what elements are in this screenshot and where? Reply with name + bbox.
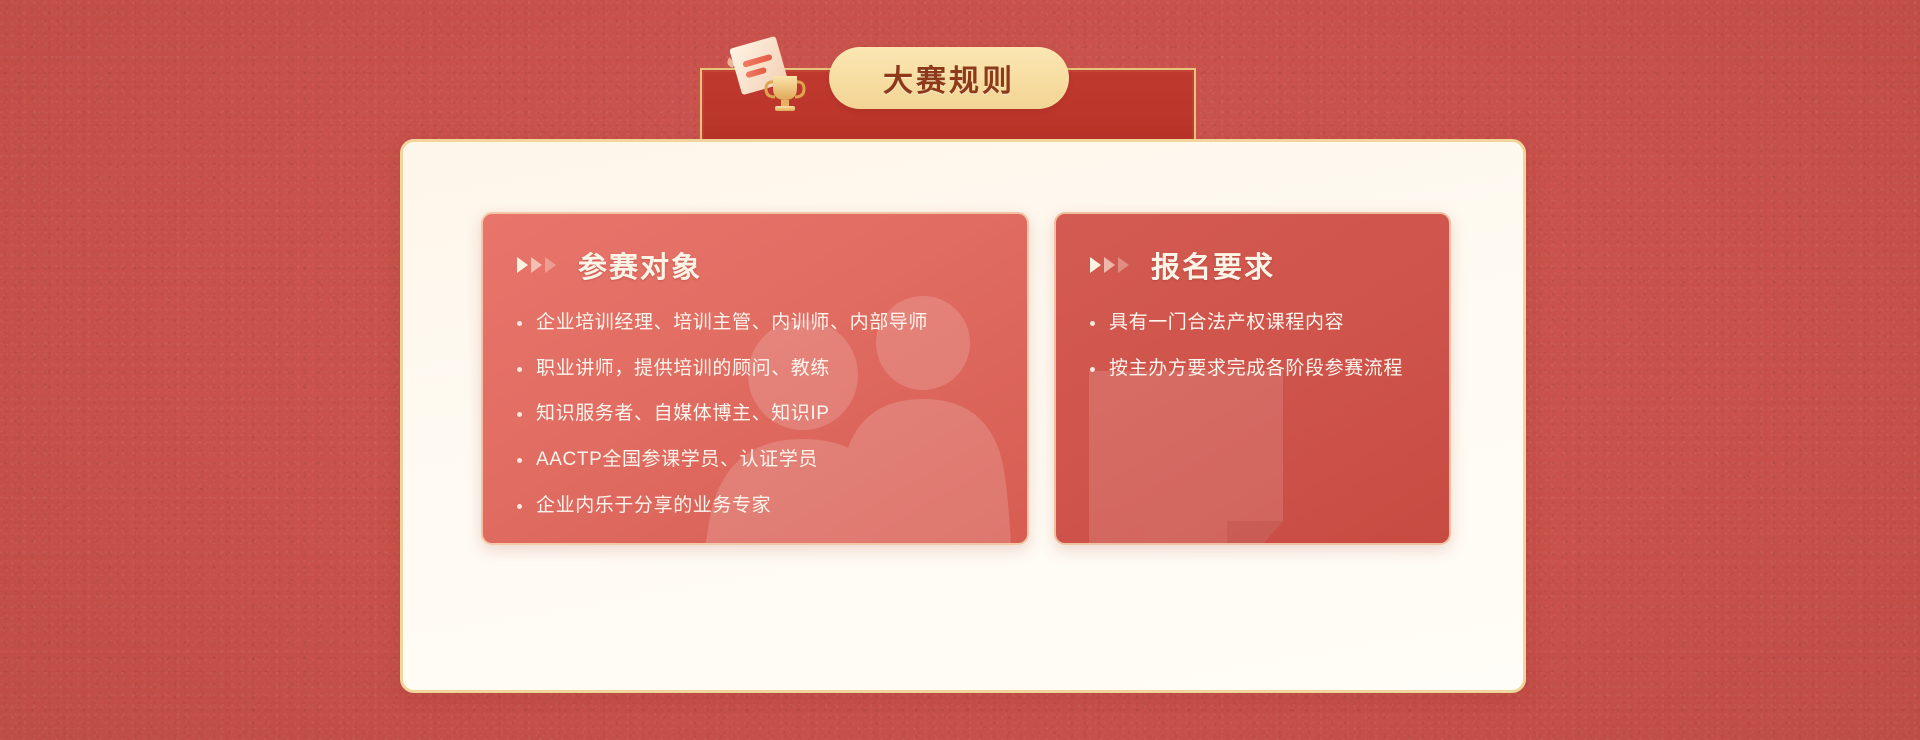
triangle-right-icon xyxy=(1090,257,1129,273)
section-title-badge: 大赛规则 xyxy=(829,47,1069,109)
participants-list: 企业培训经理、培训主管、内训师、内部导师 职业讲师，提供培训的顾问、教练 知识服… xyxy=(483,310,1027,518)
requirements-list: 具有一门合法产权课程内容 按主办方要求完成各阶段参赛流程 xyxy=(1056,310,1449,381)
card-requirements: 报名要求 具有一门合法产权课程内容 按主办方要求完成各阶段参赛流程 xyxy=(1054,212,1451,545)
triangle-right-icon xyxy=(517,257,556,273)
list-item-text: 知识服务者、自媒体博主、知识IP xyxy=(536,401,830,427)
list-item: AACTP全国参课学员、认证学员 xyxy=(517,447,1005,473)
bullet-dot-icon xyxy=(517,367,522,372)
list-item: 职业讲师，提供培训的顾问、教练 xyxy=(517,356,1005,382)
list-item-text: 职业讲师，提供培训的顾问、教练 xyxy=(536,356,830,382)
cards-container: 参赛对象 企业培训经理、培训主管、内训师、内部导师 职业讲师，提供培训的顾问、教… xyxy=(481,212,1451,545)
bullet-dot-icon xyxy=(517,321,522,326)
list-item: 按主办方要求完成各阶段参赛流程 xyxy=(1090,356,1427,382)
bullet-dot-icon xyxy=(517,504,522,509)
list-item-text: 企业内乐于分享的业务专家 xyxy=(536,493,771,519)
bullet-dot-icon xyxy=(517,458,522,463)
page-title: 大赛规则 xyxy=(883,56,1015,100)
list-item-text: AACTP全国参课学员、认证学员 xyxy=(536,447,818,473)
document-page-icon xyxy=(1081,363,1291,545)
list-item-text: 按主办方要求完成各阶段参赛流程 xyxy=(1109,356,1403,382)
list-item-text: 企业培训经理、培训主管、内训师、内部导师 xyxy=(536,310,928,336)
card-participants: 参赛对象 企业培训经理、培训主管、内训师、内部导师 职业讲师，提供培训的顾问、教… xyxy=(481,212,1029,545)
list-item: 企业培训经理、培训主管、内训师、内部导师 xyxy=(517,310,1005,336)
list-item-text: 具有一门合法产权课程内容 xyxy=(1109,310,1344,336)
list-item: 企业内乐于分享的业务专家 xyxy=(517,493,1005,519)
card-title-requirements: 报名要求 xyxy=(1151,244,1275,286)
bullet-dot-icon xyxy=(1090,321,1095,326)
list-item: 知识服务者、自媒体博主、知识IP xyxy=(517,401,1005,427)
rules-panel: 参赛对象 企业培训经理、培训主管、内训师、内部导师 职业讲师，提供培训的顾问、教… xyxy=(400,139,1526,693)
card-title-participants: 参赛对象 xyxy=(578,244,702,286)
card-header-participants: 参赛对象 xyxy=(483,244,1027,286)
bullet-dot-icon xyxy=(1090,367,1095,372)
bullet-dot-icon xyxy=(517,412,522,417)
card-header-requirements: 报名要求 xyxy=(1056,244,1449,286)
list-item: 具有一门合法产权课程内容 xyxy=(1090,310,1427,336)
